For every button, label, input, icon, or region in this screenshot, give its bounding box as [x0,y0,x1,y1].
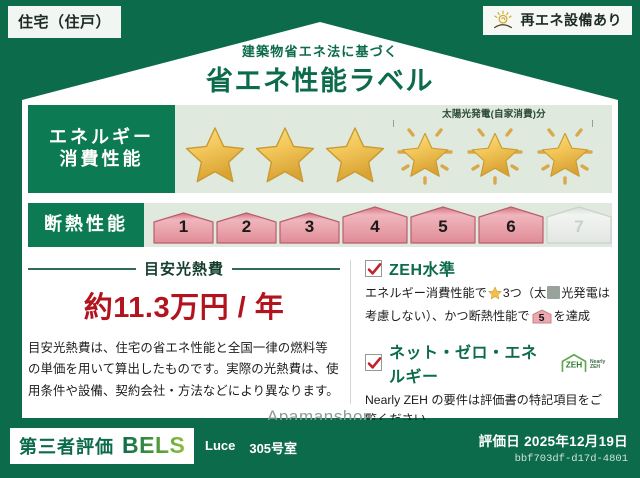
zeh-body-text-5: を達成 [554,309,591,323]
utility-cost-column: 目安光熱費 約11.3万円 / 年 目安光熱費は、住宅の省エネ性能と全国一律の燃… [28,256,350,408]
bottom-section: 目安光熱費 約11.3万円 / 年 目安光熱費は、住宅の省エネ性能と全国一律の燃… [28,256,612,408]
insulation-level-6: 6 [478,205,544,245]
energy-performance-label: 住宅（住戸） 再エネ設備あり 建築物省エネ法に基づく 省エネ性能ラベル [0,0,640,478]
evaluation-date: 評価日 2025年12月19日 [479,430,628,450]
bels-en-label: BELS [122,432,185,459]
bels-badge: 第三者評価 BELS [10,428,194,464]
insulation-badges-panel: 1234567 [144,203,612,247]
property-name: Luce [205,438,235,457]
renewable-equipment-badge: 再エネ設備あり [483,6,633,35]
star-solar [531,121,599,187]
insulation-level-value: 6 [506,218,515,243]
star-filled [251,121,319,187]
zeh-standard-title-row: ZEH水準 [365,256,612,280]
insulation-level-5: 5 [410,205,476,245]
rule-left [28,268,136,270]
insulation-level-value: 7 [574,218,583,243]
footer-meta: 評価日 2025年12月19日 bbf703df-d17d-4801 [479,430,628,465]
insulation-level-value: 3 [305,218,314,243]
renewable-badge-label: 再エネ設備あり [521,10,623,30]
insulation-level-3: 3 [279,209,340,245]
zeh-body-text-3: 光発電 [561,286,598,300]
property-info: Luce 305号室 [205,438,297,457]
label-subtitle: 建築物省エネ法に基づく [0,41,640,60]
inline-insulation-badge: 5 [532,309,552,324]
inline-insulation-badge-value: 5 [532,310,552,327]
utility-cost-heading-row: 目安光熱費 [28,258,340,279]
insulation-performance-label: 断熱性能 [28,203,144,247]
footer-bar: 第三者評価 BELS Luce 305号室 評価日 2025年12月19日 bb… [0,420,640,478]
star-rating [181,121,599,187]
building-type-tag: 住宅（住戸） [8,6,121,38]
insulation-performance-row: 断熱性能 1234567 [28,203,612,247]
insulation-level-7: 7 [546,205,612,245]
utility-cost-heading: 目安光熱費 [144,258,224,279]
insulation-level-value: 5 [438,218,447,243]
star-solar [461,121,529,187]
zeh-standard-title: ZEH水準 [389,256,456,280]
star-solar [391,121,459,187]
energy-performance-row: エネルギー 消費性能 太陽光発電(自家消費)分 [28,105,612,193]
label-title: 省エネ性能ラベル [0,59,640,98]
zeh-logo: ZEH Nearly ZEH [560,351,612,375]
zeh-standard-body: エネルギー消費性能で3つ（太光発電は考慮しない）、かつ断熱性能で5を達成 [365,284,612,327]
star-filled [321,121,389,187]
checkbox-checked-icon [365,354,382,371]
zeh-logo-caption: Nearly ZEH [590,360,612,375]
bels-jp-label: 第三者評価 [19,433,114,459]
zeh-standard-block: ZEH水準 エネルギー消費性能で3つ（太光発電は考慮しない）、かつ断熱性能で5を… [365,256,612,327]
column-divider [350,260,351,404]
zeh-body-text-2: 3つ（太 [503,286,546,300]
solar-bracket-label: 太陽光発電(自家消費)分 [391,106,597,120]
insulation-level-1: 1 [153,209,214,245]
net-zero-title-row: ネット・ゼロ・エネルギー ZEH Nearly ZEH [365,339,612,387]
utility-cost-note: 目安光熱費は、住宅の省エネ性能と全国一律の燃料等の単価を用いて算出したものです。… [28,338,340,402]
insulation-level-scale: 1234567 [150,205,612,245]
room-number: 305号室 [249,438,297,457]
insulation-level-value: 1 [179,218,188,243]
insulation-level-2: 2 [216,209,277,245]
insulation-level-value: 4 [370,218,379,243]
insulation-level-value: 2 [242,218,251,243]
utility-cost-value: 約11.3万円 / 年 [28,284,340,326]
energy-performance-label: エネルギー 消費性能 [28,105,175,193]
zeh-body-text-1: エネルギー消費性能で [365,286,487,300]
sun-icon [491,10,515,30]
zeh-column: ZEH水準 エネルギー消費性能で3つ（太光発電は考慮しない）、かつ断熱性能で5を… [361,256,612,408]
rule-right [232,268,340,270]
energy-performance-stars-panel: 太陽光発電(自家消費)分 [175,105,612,193]
net-zero-title: ネット・ゼロ・エネルギー [389,339,553,387]
insulation-level-4: 4 [342,205,408,245]
inline-star-icon [488,286,502,307]
checkbox-checked-icon [365,260,382,277]
star-filled [181,121,249,187]
redacted-block [547,286,560,299]
svg-text:ZEH: ZEH [566,360,583,369]
evaluation-id: bbf703df-d17d-4801 [479,453,628,465]
